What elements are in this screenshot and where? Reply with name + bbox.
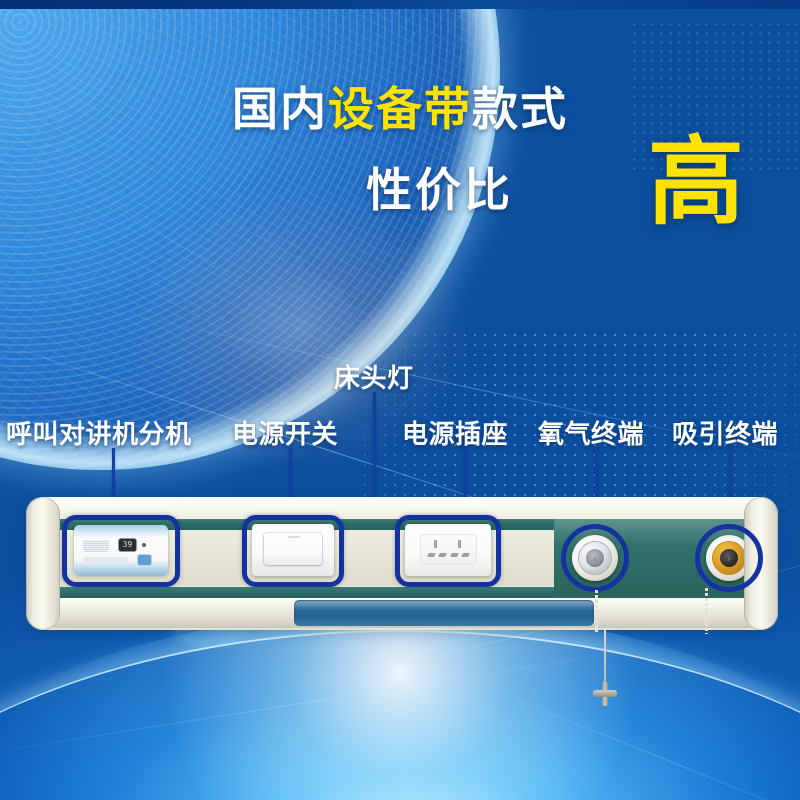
- callout-power-switch: 电源开关: [232, 414, 338, 451]
- panel-blue-rail-gloss: [294, 601, 594, 610]
- headline-block: 国内设备带款式 性价比 高: [0, 86, 800, 132]
- headline-part-2: 款式: [472, 82, 568, 136]
- promo-banner: 国内设备带款式 性价比 高 呼叫对讲机分机 电源开关 床头灯 电源插座 氧气终端…: [0, 0, 800, 800]
- callout-intercom: 呼叫对讲机分机: [6, 414, 192, 451]
- callout-bed-lamp: 床头灯: [334, 358, 414, 395]
- headline-line-2: 性价比: [366, 154, 513, 220]
- oxygen-outlet-cord: [595, 590, 598, 632]
- callout-oxygen-terminal: 氧气终端: [538, 414, 644, 451]
- highlight-circle-oxygen: [561, 524, 629, 592]
- headline-part-1: 国内: [232, 82, 328, 136]
- callout-power-socket: 电源插座: [402, 414, 508, 451]
- headline-line-1: 国内设备带款式: [232, 86, 568, 132]
- panel-top-highlight: [26, 497, 778, 513]
- plug-hook-horizontal: [593, 690, 617, 697]
- medical-equipment-panel: 39: [26, 497, 778, 630]
- highlight-circle-suction: [695, 524, 763, 592]
- highlight-box-power-switch: [242, 515, 344, 587]
- headline-big-word: 高: [648, 134, 744, 230]
- panel-end-cap-left: [26, 497, 60, 630]
- hanging-pull-cord[interactable]: [604, 630, 606, 690]
- highlight-box-intercom: [62, 515, 180, 587]
- highlight-box-power-socket: [395, 515, 501, 587]
- headline-highlight: 设备带: [328, 82, 472, 136]
- suction-outlet-cord: [705, 588, 708, 634]
- callout-suction-terminal: 吸引终端: [672, 414, 778, 451]
- top-edge-band: [0, 0, 800, 9]
- cord-plug-hook[interactable]: [593, 682, 617, 706]
